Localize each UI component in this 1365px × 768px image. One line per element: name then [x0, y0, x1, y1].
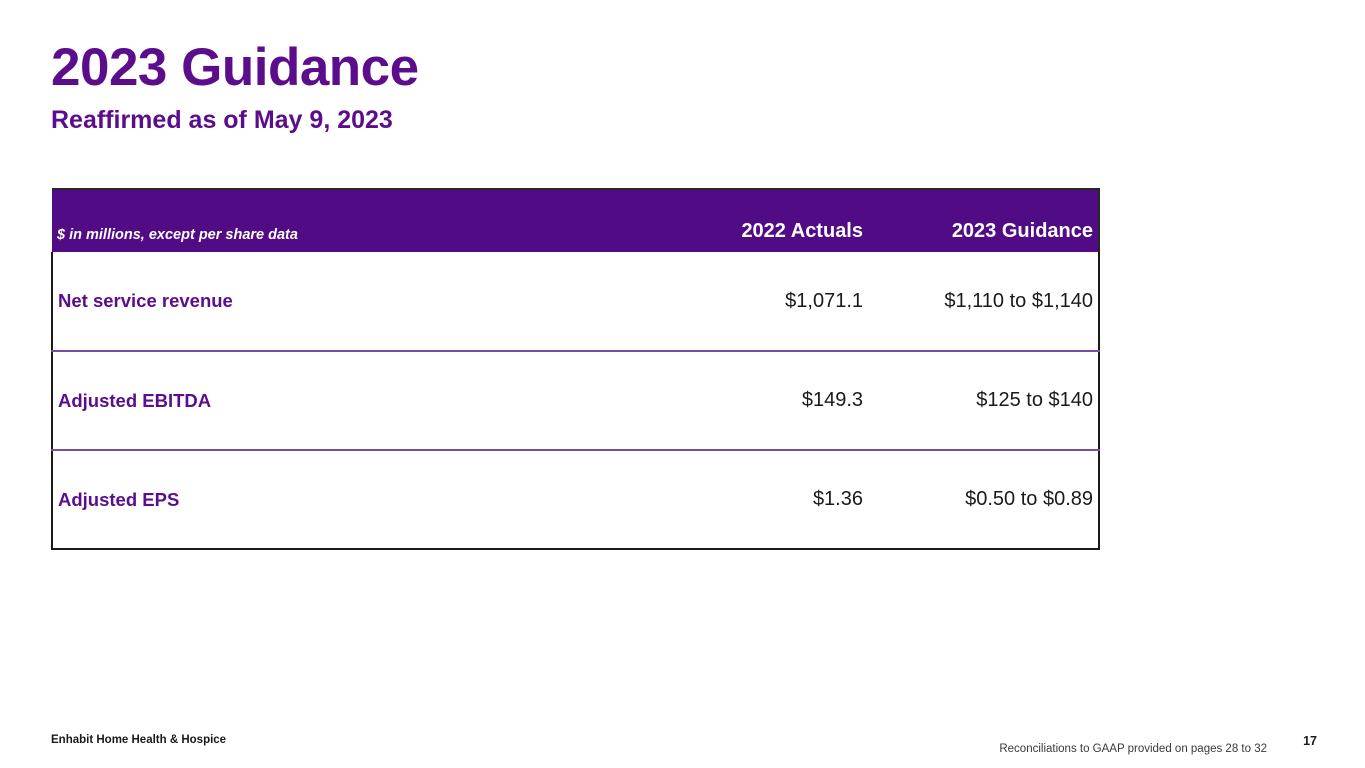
footer-brand: Enhabit Home Health & Hospice: [51, 734, 226, 746]
column-header-units: $ in millions, except per share data: [52, 189, 662, 252]
cell-adjusted-ebitda-actuals: $149.3: [662, 351, 867, 450]
table-header: $ in millions, except per share data 202…: [52, 189, 1099, 252]
guidance-table: $ in millions, except per share data 202…: [51, 188, 1100, 550]
cell-adjusted-eps-actuals: $1.36: [662, 450, 867, 549]
column-header-2023-guidance: 2023 Guidance: [867, 189, 1099, 252]
table-body: Net service revenue $1,071.1 $1,110 to $…: [52, 252, 1099, 549]
title-block: 2023 Guidance Reaffirmed as of May 9, 20…: [51, 40, 951, 135]
page-subtitle: Reaffirmed as of May 9, 2023: [51, 106, 951, 135]
table-row: Adjusted EBITDA $149.3 $125 to $140: [52, 351, 1099, 450]
footer-note: Reconciliations to GAAP provided on page…: [999, 743, 1267, 755]
cell-net-service-revenue-actuals: $1,071.1: [662, 252, 867, 351]
page-title: 2023 Guidance: [51, 40, 951, 96]
cell-adjusted-eps-guidance: $0.50 to $0.89: [867, 450, 1099, 549]
column-header-2022-actuals: 2022 Actuals: [662, 189, 867, 252]
row-label-adjusted-eps: Adjusted EPS: [52, 450, 662, 549]
cell-net-service-revenue-guidance: $1,110 to $1,140: [867, 252, 1099, 351]
row-label-adjusted-ebitda: Adjusted EBITDA: [52, 351, 662, 450]
row-label-net-service-revenue: Net service revenue: [52, 252, 662, 351]
table-header-row: $ in millions, except per share data 202…: [52, 189, 1099, 252]
cell-adjusted-ebitda-guidance: $125 to $140: [867, 351, 1099, 450]
presentation-slide: 2023 Guidance Reaffirmed as of May 9, 20…: [0, 0, 1365, 768]
table-row: Adjusted EPS $1.36 $0.50 to $0.89: [52, 450, 1099, 549]
table-row: Net service revenue $1,071.1 $1,110 to $…: [52, 252, 1099, 351]
page-number: 17: [1303, 734, 1317, 748]
